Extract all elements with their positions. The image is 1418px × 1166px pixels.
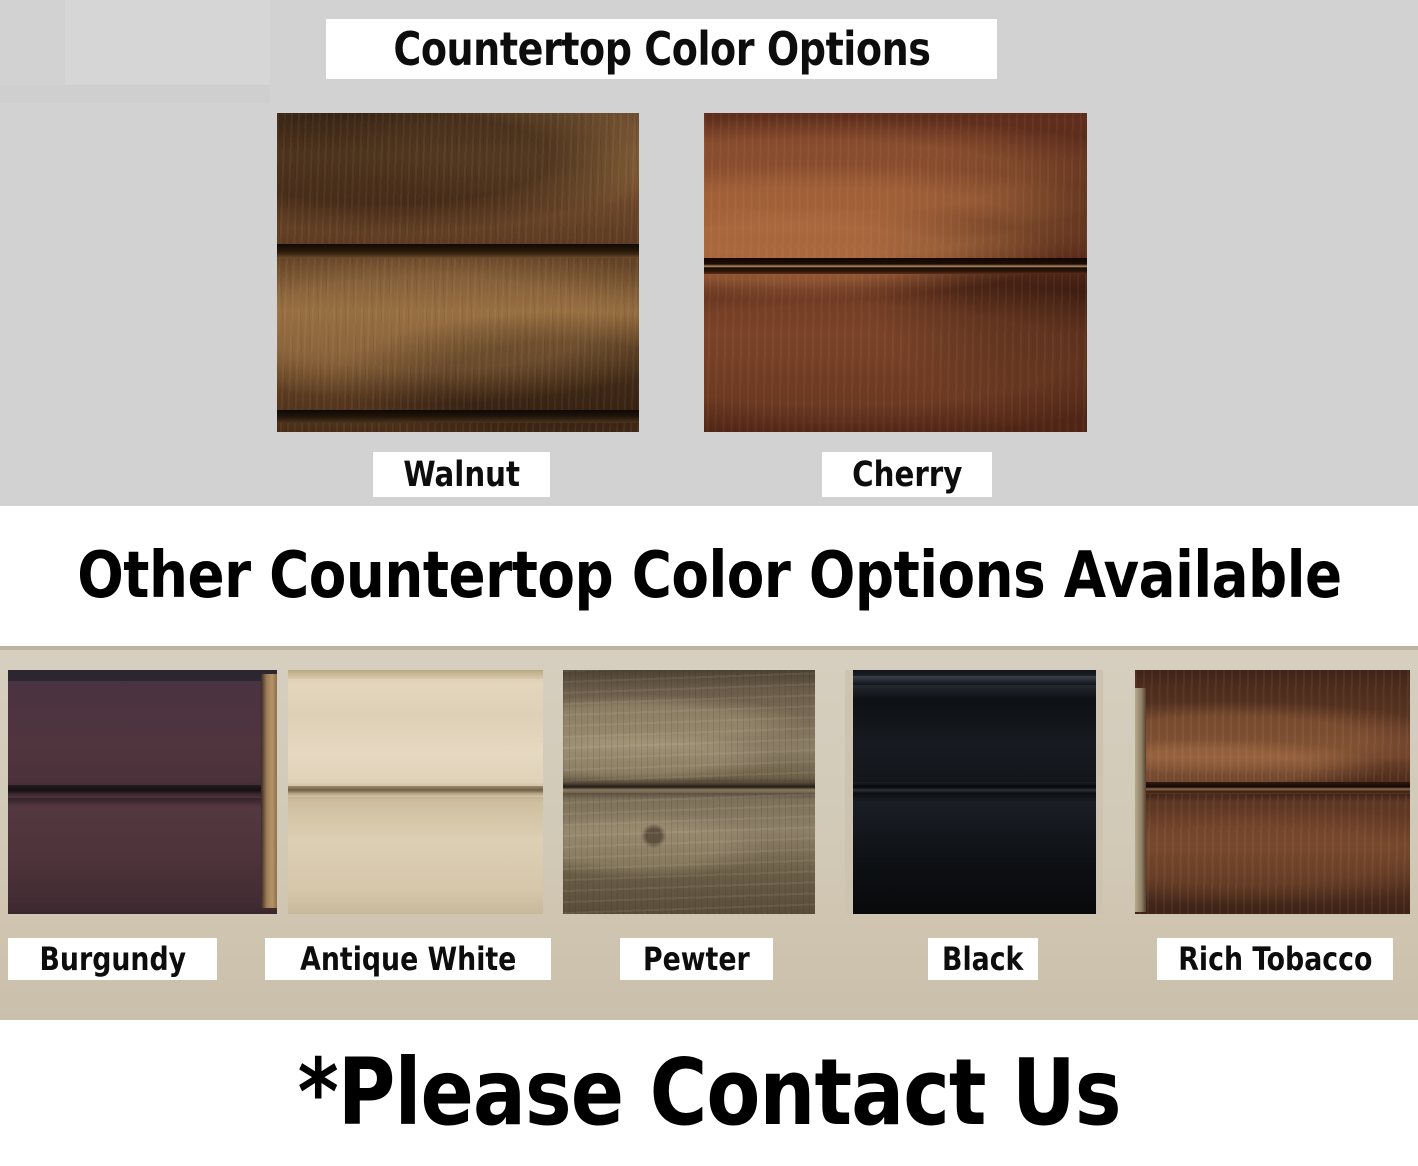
subheading-band: Other Countertop Color Options Available xyxy=(0,506,1418,646)
swatch-label-black-text: Black xyxy=(942,940,1023,978)
swatch-image-black xyxy=(845,670,1103,914)
burgundy-groove xyxy=(8,785,277,798)
page-title: Countertop Color Options xyxy=(326,19,997,79)
black-left-margin xyxy=(845,670,853,914)
swatch-label-burgundy-text: Burgundy xyxy=(39,940,186,978)
swatch-label-cherry: Cherry xyxy=(822,452,992,497)
subheading-text: Other Countertop Color Options Available xyxy=(77,539,1341,613)
tan-band-top-edge xyxy=(0,646,1418,650)
background-artifact-bar xyxy=(0,85,270,103)
black-top-edge xyxy=(845,676,1103,685)
antique-white-top-edge xyxy=(288,670,543,679)
swatch-image-burgundy xyxy=(8,670,277,914)
swatch-label-rich-tobacco: Rich Tobacco xyxy=(1157,938,1393,980)
walnut-groove-lower xyxy=(277,410,639,423)
primary-swatches-section: Countertop Color Options Walnut Cherry xyxy=(0,0,1418,506)
footer-band: *Please Contact Us xyxy=(0,1020,1418,1166)
swatch-label-pewter-text: Pewter xyxy=(643,940,750,978)
swatch-image-cherry xyxy=(704,113,1087,432)
swatch-label-walnut-text: Walnut xyxy=(403,455,520,495)
swatch-image-rich-tobacco xyxy=(1135,670,1410,914)
swatch-label-burgundy: Burgundy xyxy=(8,938,217,980)
pewter-groove xyxy=(563,782,815,793)
walnut-groove-upper xyxy=(277,244,639,258)
swatch-label-black: Black xyxy=(928,938,1038,980)
walnut-grain-lines xyxy=(277,113,639,432)
burgundy-top-edge xyxy=(8,670,277,681)
footer-contact-text: *Please Contact Us xyxy=(297,1047,1120,1139)
swatch-label-antique-white-text: Antique White xyxy=(300,940,516,978)
swatch-label-walnut: Walnut xyxy=(373,452,550,497)
black-groove xyxy=(845,782,1103,793)
swatch-label-cherry-text: Cherry xyxy=(852,455,962,495)
swatch-image-walnut xyxy=(277,113,639,432)
countertop-color-options-graphic: Countertop Color Options Walnut Cherry O… xyxy=(0,0,1418,1166)
rich-tobacco-raw-wood-edge xyxy=(1135,688,1146,912)
black-right-margin xyxy=(1096,670,1103,914)
antique-white-groove xyxy=(288,786,543,797)
rich-tobacco-groove xyxy=(1135,782,1410,794)
swatch-label-pewter: Pewter xyxy=(620,938,773,980)
swatch-image-antique-white xyxy=(288,670,543,914)
swatch-image-pewter xyxy=(563,670,815,914)
cherry-groove xyxy=(704,258,1087,274)
swatch-label-antique-white: Antique White xyxy=(265,938,551,980)
swatch-label-rich-tobacco-text: Rich Tobacco xyxy=(1178,940,1372,978)
page-title-text: Countertop Color Options xyxy=(393,22,930,76)
burgundy-raw-wood-edge xyxy=(261,674,277,908)
